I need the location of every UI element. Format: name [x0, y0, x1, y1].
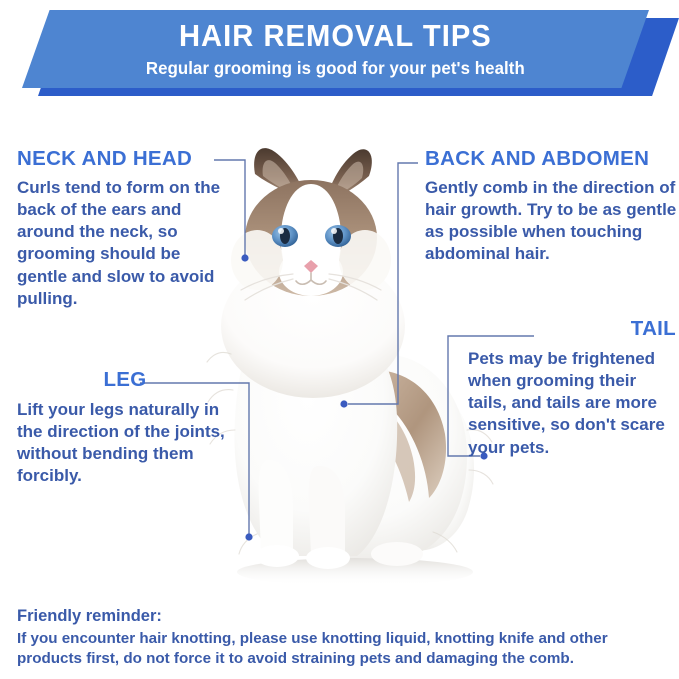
callout-leg: LEG Lift your legs naturally in the dire… [17, 369, 233, 488]
callout-neck-and-head: NECK AND HEAD Curls tend to form on the … [17, 148, 235, 310]
friendly-reminder: Friendly reminder: If you encounter hair… [17, 606, 667, 669]
cat-paw-rear [371, 542, 423, 566]
callout-leg-body: Lift your legs naturally in the directio… [17, 399, 233, 488]
page-subtitle: Regular grooming is good for your pet's … [146, 60, 525, 78]
header-banner: HAIR REMOVAL TIPS Regular grooming is go… [0, 0, 679, 104]
callout-leg-title: LEG [17, 369, 233, 391]
callout-neck-and-head-title: NECK AND HEAD [17, 148, 235, 170]
cat-paw-right [306, 547, 350, 569]
infographic-page: HAIR REMOVAL TIPS Regular grooming is go… [0, 0, 679, 679]
banner-text-group: HAIR REMOVAL TIPS Regular grooming is go… [22, 10, 649, 88]
cat-eye-glint-left [278, 228, 284, 234]
cat-paw-left [255, 545, 299, 567]
callout-back-and-abdomen: BACK AND ABDOMEN Gently comb in the dire… [425, 148, 677, 266]
page-title: HAIR REMOVAL TIPS [179, 20, 492, 51]
callout-tail: TAIL Pets may be frightened when groomin… [468, 318, 676, 459]
callout-tail-body: Pets may be frightened when grooming the… [468, 348, 676, 459]
callout-neck-and-head-body: Curls tend to form on the back of the ea… [17, 177, 235, 311]
friendly-reminder-body: If you encounter hair knotting, please u… [17, 629, 667, 669]
callout-back-and-abdomen-title: BACK AND ABDOMEN [425, 148, 677, 170]
callout-tail-title: TAIL [468, 318, 676, 340]
cat-eye-glint-right [331, 228, 337, 234]
callout-back-and-abdomen-body: Gently comb in the direction of hair gro… [425, 177, 677, 266]
friendly-reminder-title: Friendly reminder: [17, 606, 667, 627]
